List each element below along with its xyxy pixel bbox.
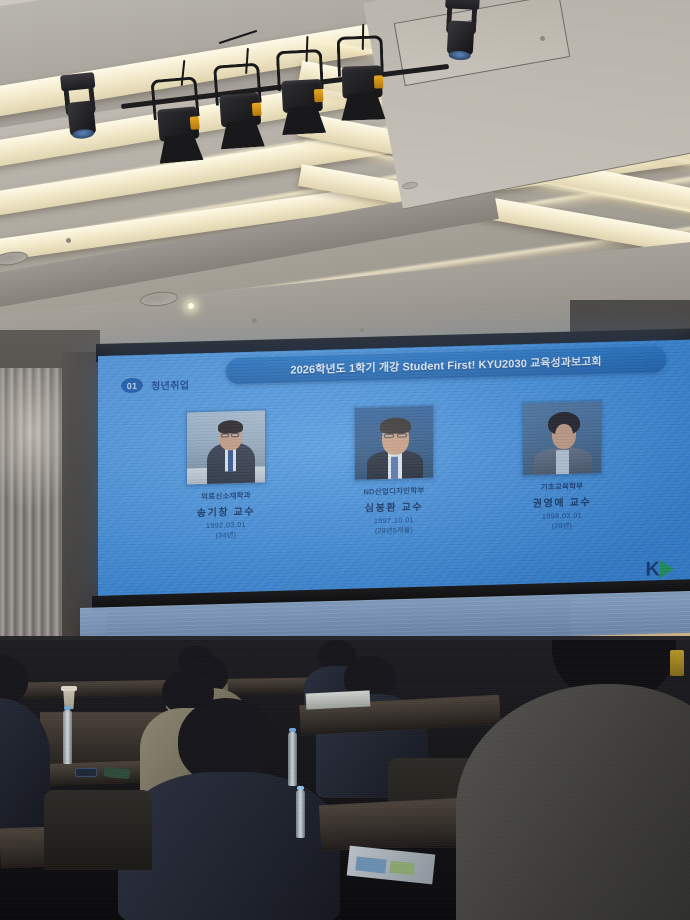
handout-paper [306, 690, 371, 709]
professor-name: 심봉환 교수 [365, 498, 423, 515]
professor-name: 권영애 교수 [533, 493, 591, 510]
professor-tenure: (34년) [216, 530, 236, 541]
stage-light-fresnel [148, 76, 207, 166]
professor-card: ND산업디자인학부 심봉환 교수 1997.10.01 (28년5개월) [348, 404, 440, 537]
professor-card-list: 의료신소재학과 송기창 교수 1992.03.01 (34년) [98, 397, 690, 544]
professor-name: 송기창 교수 [197, 503, 255, 520]
slide-section-badge: 01 청년취업 [120, 375, 189, 394]
water-bottle [63, 710, 72, 764]
professor-portrait [522, 400, 602, 476]
downlight-icon [0, 250, 29, 268]
professor-start-date: 1998.03.01 [542, 512, 582, 520]
stage-light-fresnel [211, 62, 269, 151]
section-number: 01 [120, 377, 144, 395]
stage-light-fresnel [274, 49, 330, 138]
slide-canvas: 01 청년취업 2026학년도 1학기 개강 Student First! KY… [98, 339, 690, 604]
smartphone [75, 768, 97, 777]
stage-light-fresnel [335, 35, 390, 123]
section-label: 청년취업 [151, 376, 189, 392]
booklet-photo [355, 856, 386, 873]
professor-start-date: 1997.10.01 [374, 517, 414, 525]
water-bottle [288, 732, 297, 786]
audience-area [0, 640, 690, 920]
professor-tenure: (28년5개월) [375, 525, 413, 536]
professor-portrait [354, 405, 434, 481]
seat-back [44, 790, 152, 870]
lanyard [670, 650, 684, 676]
organization-logo: K [646, 560, 674, 579]
booklet-photo [389, 861, 414, 875]
window-curtain [0, 368, 70, 658]
professor-department: ND산업디자인학부 [364, 485, 425, 498]
slide-title-text: 2026학년도 1학기 개강 Student First! KYU2030 교육… [290, 353, 601, 378]
professor-start-date: 1992.03.01 [206, 522, 246, 530]
professor-card: 기초교육학부 권영애 교수 1998.03.01 (28년) [516, 400, 608, 533]
spotlight-glint-icon [188, 303, 194, 309]
professor-department: 기초교육학부 [541, 480, 584, 492]
professor-card: 의료신소재학과 송기창 교수 1992.03.01 (34년) [180, 409, 272, 542]
water-bottle [296, 790, 305, 838]
logo-triangle-icon [660, 560, 674, 578]
led-presentation-screen: 01 청년취업 2026학년도 1학기 개강 Student First! KY… [98, 339, 690, 604]
slide-title-banner: 2026학년도 1학기 개강 Student First! KYU2030 교육… [226, 346, 666, 384]
conference-hall-photo: 01 청년취업 2026학년도 1학기 개강 Student First! KY… [0, 0, 690, 920]
professor-department: 의료신소재학과 [201, 490, 251, 502]
logo-letter: K [646, 560, 659, 578]
professor-portrait [186, 409, 266, 485]
desk-row [46, 760, 153, 786]
professor-tenure: (28년) [552, 521, 572, 532]
